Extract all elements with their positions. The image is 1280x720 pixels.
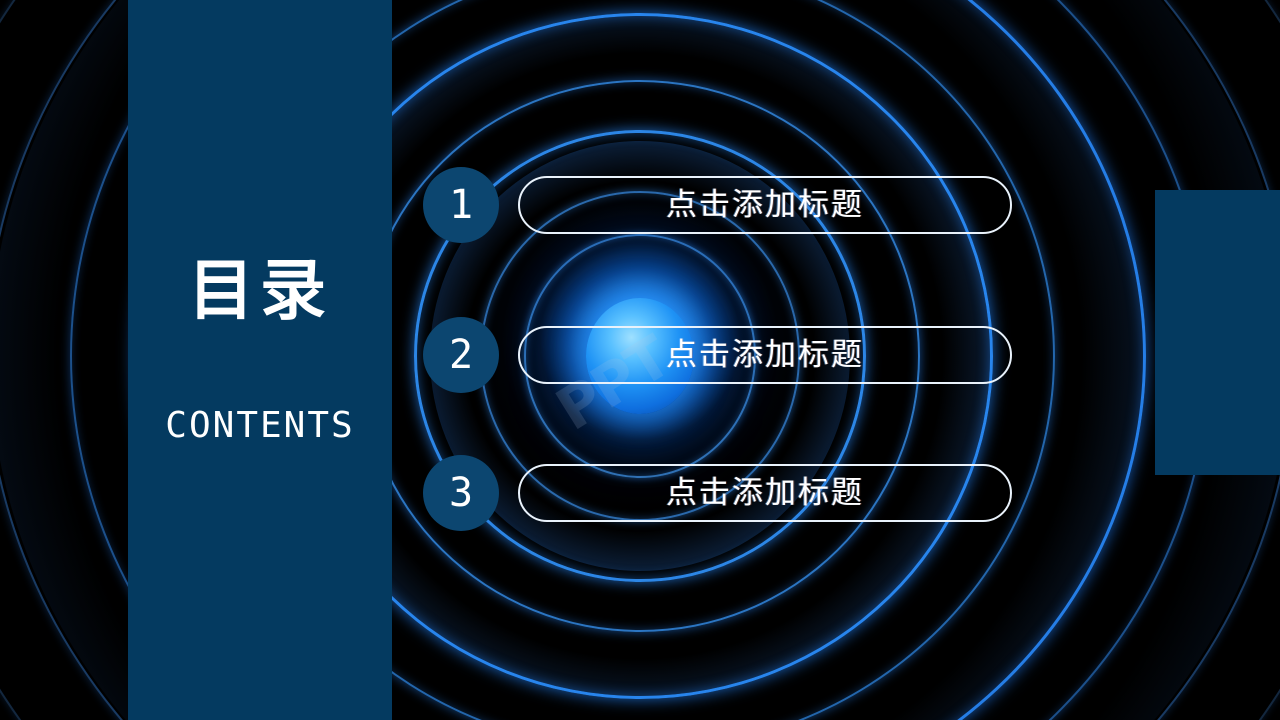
item-number-label: 3 bbox=[449, 473, 473, 513]
item-title-label: 点击添加标题 bbox=[666, 340, 864, 371]
item-number-label: 2 bbox=[449, 335, 473, 375]
item-title-pill[interactable]: 点击添加标题 bbox=[518, 176, 1012, 234]
left-title-panel: 目录 CONTENTS bbox=[128, 0, 392, 720]
item-number-badge: 2 bbox=[423, 317, 499, 393]
item-number-label: 1 bbox=[449, 185, 473, 225]
right-accent-rectangle bbox=[1155, 190, 1280, 475]
page-subtitle: CONTENTS bbox=[128, 408, 392, 444]
item-number-badge: 1 bbox=[423, 167, 499, 243]
item-title-label: 点击添加标题 bbox=[666, 190, 864, 221]
page-title: 目录 bbox=[128, 258, 392, 324]
item-title-pill[interactable]: 点击添加标题 bbox=[518, 326, 1012, 384]
item-title-pill[interactable]: 点击添加标题 bbox=[518, 464, 1012, 522]
item-title-label: 点击添加标题 bbox=[666, 478, 864, 509]
item-number-badge: 3 bbox=[423, 455, 499, 531]
contents-slide: PPT 目录 CONTENTS 1 点击添加标题 2 点击添加标题 3 点击添加… bbox=[0, 0, 1280, 720]
